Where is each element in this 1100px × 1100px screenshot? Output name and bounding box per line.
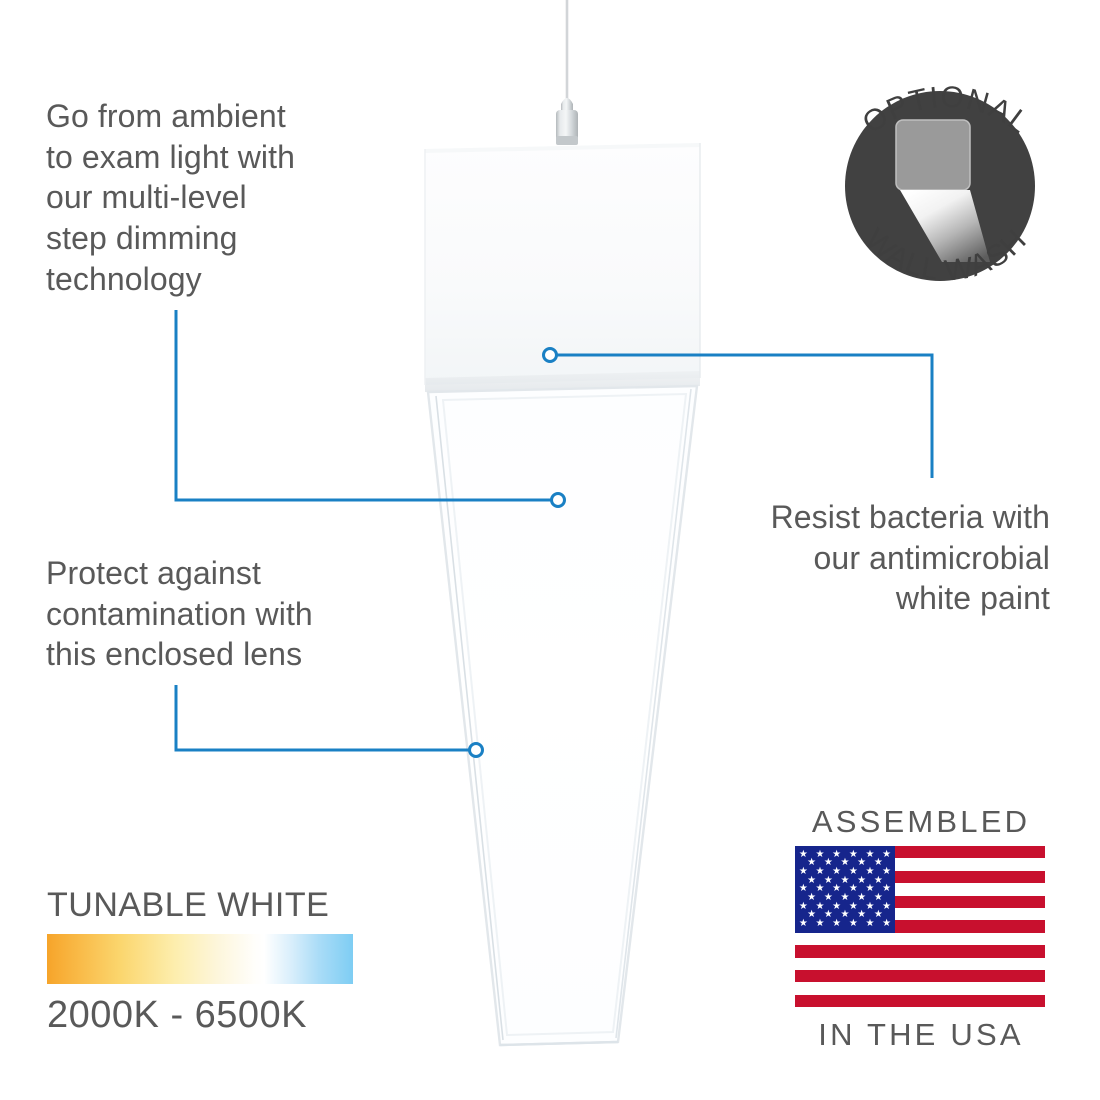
flag-canton: ★★★★★★★★★★★★★★★★★★★★★★★★★★★★★★★★★★★★★★★★… [795,846,895,933]
tunable-white-gradient-bar [47,934,353,984]
assembled-label: ASSEMBLED [795,806,1047,837]
badge-fixture-icon [896,120,970,190]
cable-gripper [556,98,578,145]
callout-step-dimming-text: Go from ambient to exam light with our m… [46,96,366,299]
enclosed-lens [428,386,697,1045]
flag-star: ★ [848,919,858,929]
tunable-white-title: TUNABLE WHITE [47,888,357,922]
flag-star: ★ [865,919,875,929]
optional-wall-wash-badge: OPTIONAL WALL WASH [818,48,1074,330]
usa-flag-icon: ★★★★★★★★★★★★★★★★★★★★★★★★★★★★★★★★★★★★★★★★… [795,846,1045,1007]
tunable-white-panel: TUNABLE WHITE 2000K - 6500K [47,888,357,1034]
assembled-in-usa-badge: ASSEMBLED ★★★★★★★★★★★★★★★★★★★★★★★★★★★★★★… [795,806,1047,1050]
callout-antimicrobial-text: Resist bacteria with our antimicrobial w… [700,497,1050,619]
luminaire-housing [425,143,700,392]
flag-star: ★ [832,919,842,929]
flag-star: ★ [882,919,892,929]
tunable-white-range-label: 2000K - 6500K [47,996,357,1034]
in-the-usa-label: IN THE USA [795,1019,1047,1050]
callout-enclosed-lens-text: Protect against contamination with this … [46,553,376,675]
flag-star: ★ [815,919,825,929]
product-infographic: Go from ambient to exam light with our m… [0,0,1100,1100]
flag-star: ★ [798,919,808,929]
